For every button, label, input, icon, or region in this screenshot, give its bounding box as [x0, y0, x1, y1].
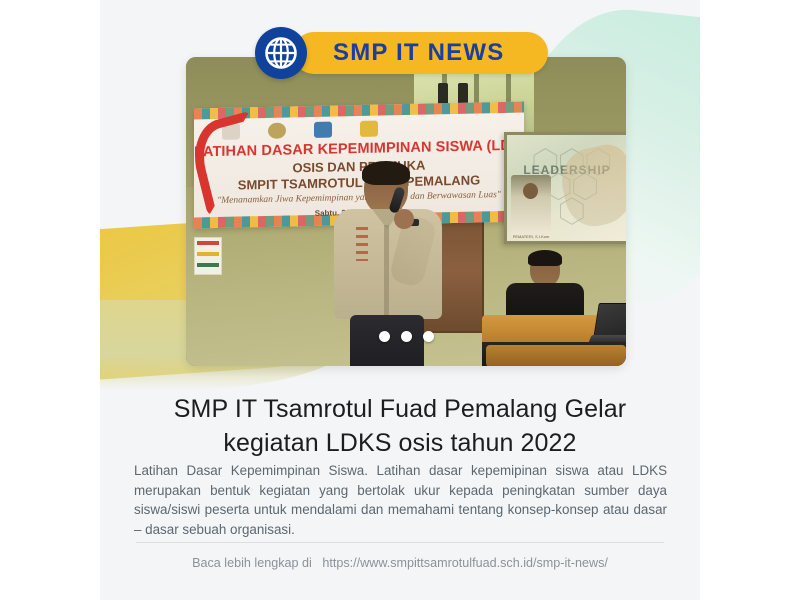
article-title: SMP IT Tsamrotul Fuad Pemalang Gelar keg…: [135, 392, 665, 460]
seated-hair: [528, 250, 562, 266]
screen-presenter-caption: PEMATERI, S.I.Kom: [511, 234, 551, 239]
article-body: Latihan Dasar Kepemimpinan Siswa. Latiha…: [134, 461, 667, 539]
screen-presenter-photo: [511, 175, 551, 237]
projector-screen: LEADERSHIP PEMATERI, S.I.Kom: [504, 132, 626, 244]
banner-logo: [360, 121, 378, 137]
table-edge: [486, 345, 626, 366]
footer-url[interactable]: https://www.smpittsamrotulfuad.sch.id/sm…: [322, 556, 608, 570]
poster-canvas: SMP IT NEWS: [0, 0, 800, 600]
banner-logo: [268, 123, 286, 139]
footer-prefix: Baca lebih lengkap di: [192, 556, 312, 570]
footer-divider: [136, 542, 664, 543]
speaker-shirt-placket: [384, 225, 389, 319]
article-photo[interactable]: LATIHAN DASAR KEPEMIMPINAN SISWA (LDKS) …: [186, 57, 626, 366]
badge-label: SMP IT NEWS: [333, 32, 504, 74]
banner-logo: [314, 122, 332, 138]
article-footer[interactable]: Baca lebih lengkap di https://www.smpitt…: [135, 556, 665, 570]
globe-icon: [255, 27, 307, 79]
speaker-shirt-embroidery: [356, 227, 368, 261]
carousel-dot-2[interactable]: [401, 331, 412, 342]
carousel-dot-1[interactable]: [379, 331, 390, 342]
seated-participant-figure: [504, 253, 584, 323]
screen-presenter-head: [523, 183, 538, 199]
carousel-dot-3[interactable]: [423, 331, 434, 342]
carousel-dots[interactable]: [186, 331, 626, 342]
wall-poster: [194, 237, 222, 275]
speaker-hair: [362, 161, 410, 185]
